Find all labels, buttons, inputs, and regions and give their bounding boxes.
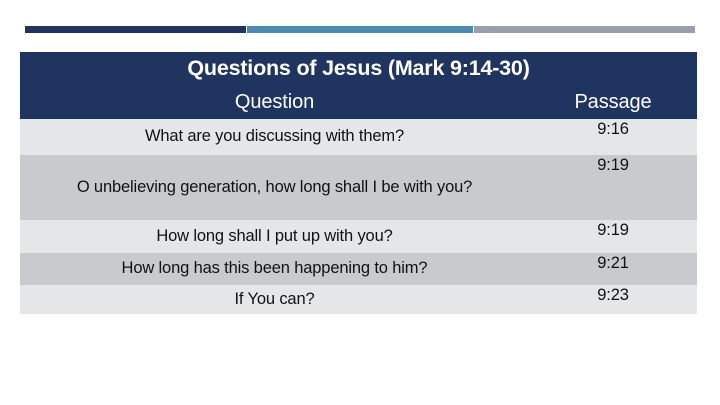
cell-passage: 9:19 (529, 155, 697, 220)
cell-passage: 9:16 (529, 119, 697, 155)
cell-question: How long shall I put up with you? (20, 220, 529, 253)
cell-question: How long has this been happening to him? (20, 253, 529, 285)
table-row: How long has this been happening to him?… (20, 253, 697, 285)
table-header-row: Question Passage (20, 85, 697, 119)
questions-table: Questions of Jesus (Mark 9:14-30) Questi… (20, 52, 697, 314)
column-header-question: Question (20, 85, 529, 119)
cell-passage: 9:19 (529, 220, 697, 253)
cell-passage: 9:23 (529, 285, 697, 314)
cell-question: If You can? (20, 285, 529, 314)
accent-bar-navy-segment (25, 26, 246, 33)
table-title-row: Questions of Jesus (Mark 9:14-30) (20, 52, 697, 85)
accent-bar (25, 26, 695, 33)
accent-bar-blue-segment (247, 26, 473, 33)
cell-question: O unbelieving generation, how long shall… (20, 155, 529, 220)
table-row: If You can? 9:23 (20, 285, 697, 314)
table-row: How long shall I put up with you? 9:19 (20, 220, 697, 253)
cell-question: What are you discussing with them? (20, 119, 529, 155)
table-row: O unbelieving generation, how long shall… (20, 155, 697, 220)
column-header-passage: Passage (529, 85, 697, 119)
cell-passage: 9:21 (529, 253, 697, 285)
accent-bar-gray-segment (474, 26, 695, 33)
table-row: What are you discussing with them? 9:16 (20, 119, 697, 155)
table-title: Questions of Jesus (Mark 9:14-30) (20, 52, 697, 85)
